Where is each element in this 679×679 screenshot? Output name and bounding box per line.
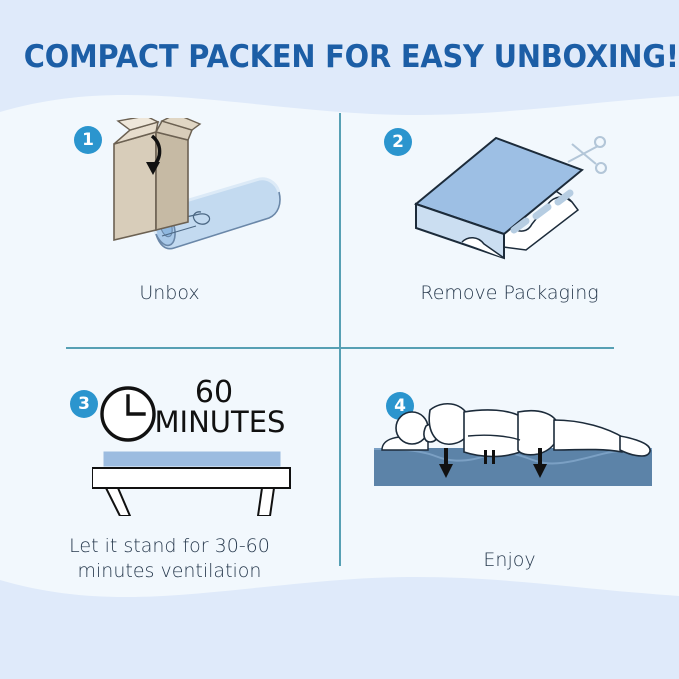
clock-label-line2: MINUTES xyxy=(155,405,286,439)
ventilation-illustration: 60 MINUTES xyxy=(92,376,292,516)
page-title: COMPACT PACKEN FOR EASY UNBOXING! xyxy=(24,39,655,75)
step-panel-2: 2 xyxy=(340,104,679,354)
step-caption-4: Enjoy xyxy=(340,548,679,573)
step-panel-4: 4 xyxy=(340,368,679,618)
remove-packaging-illustration xyxy=(400,120,620,260)
step-caption-3: Let it stand for 30-60 minutes ventilati… xyxy=(0,534,339,584)
step-panel-1: 1 xyxy=(0,104,339,354)
infographic-poster: COMPACT PACKEN FOR EASY UNBOXING! 1 xyxy=(0,0,679,679)
enjoy-illustration xyxy=(368,390,658,500)
unbox-illustration xyxy=(96,118,286,258)
step-caption-1: Unbox xyxy=(0,281,339,306)
step-panel-3: 3 60 MINUTES Let it stand for 30-60 minu xyxy=(0,368,339,618)
clock-icon xyxy=(102,388,154,440)
step-caption-2: Remove Packaging xyxy=(340,281,679,306)
